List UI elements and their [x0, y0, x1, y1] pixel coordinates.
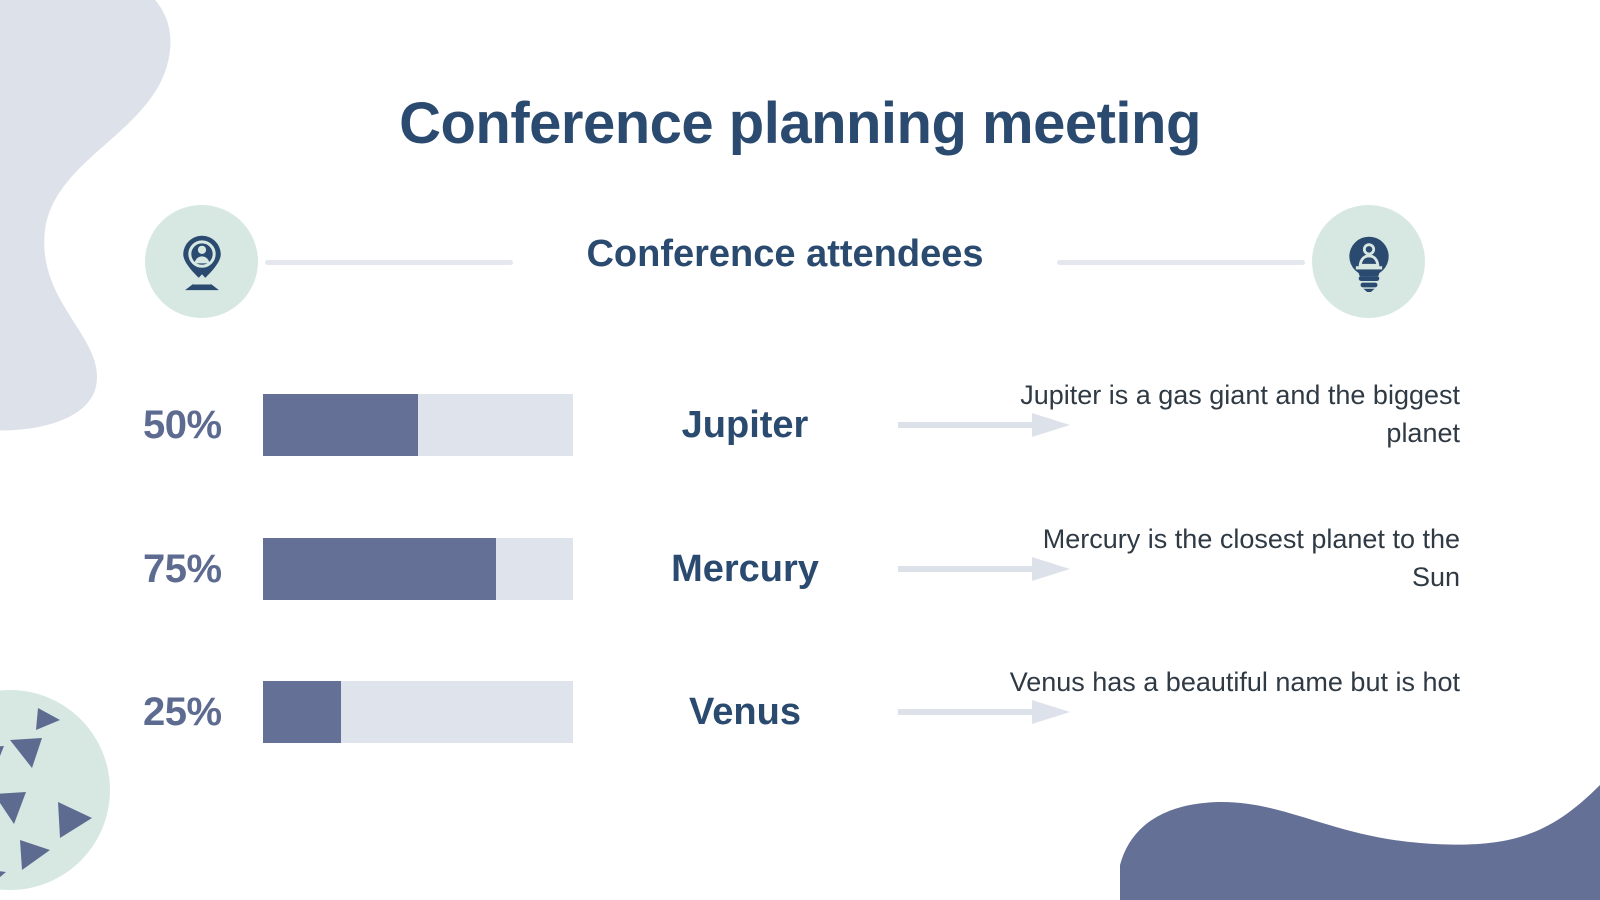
planet-description: Venus has a beautiful name but is hot [1000, 663, 1460, 701]
progress-bar-fill [263, 394, 418, 456]
planet-label: Venus [600, 672, 890, 752]
planet-label: Jupiter [600, 385, 890, 465]
slide-canvas: Conference planning meeting Conference a… [0, 0, 1600, 900]
planet-description: Mercury is the closest planet to the Sun [1000, 520, 1460, 596]
progress-bar-fill [263, 681, 341, 743]
percent-label: 25% [143, 672, 248, 752]
planet-description: Jupiter is a gas giant and the biggest p… [1000, 376, 1460, 452]
section-title: Conference attendees [145, 233, 1425, 276]
connector-line-right [1057, 260, 1305, 265]
lightbulb-person-icon [1341, 232, 1397, 292]
lightbulb-person-icon-badge [1312, 205, 1425, 318]
progress-bar-track [263, 538, 573, 600]
progress-bar-track [263, 394, 573, 456]
section-header-band: Conference attendees [145, 205, 1425, 320]
attendee-row: 50% Jupiter Jupiter is a gas giant and t… [0, 385, 1600, 465]
progress-bar-fill [263, 538, 496, 600]
progress-bar-track [263, 681, 573, 743]
bottom-right-blob-decoration [1120, 765, 1600, 900]
page-title: Conference planning meeting [0, 90, 1600, 157]
planet-label: Mercury [600, 529, 890, 609]
attendee-row: 75% Mercury Mercury is the closest plane… [0, 529, 1600, 609]
percent-label: 75% [143, 529, 248, 609]
attendee-row: 25% Venus Venus has a beautiful name but… [0, 672, 1600, 752]
percent-label: 50% [143, 385, 248, 465]
